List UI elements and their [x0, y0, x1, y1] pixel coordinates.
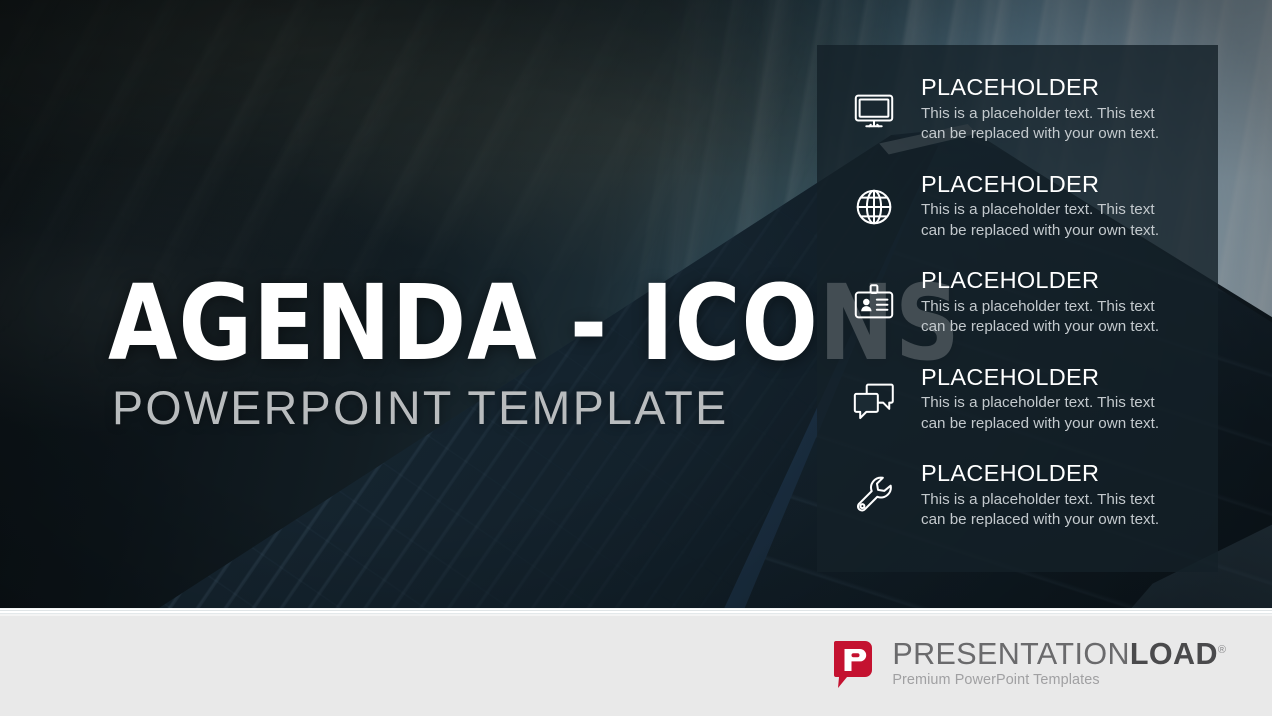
slide-canvas: AGENDA - ICONS POWERPOINT TEMPLATE PLACE… [0, 0, 1272, 716]
agenda-item-text: PLACEHOLDER This is a placeholder text. … [921, 268, 1192, 338]
agenda-item[interactable]: PLACEHOLDER This is a placeholder text. … [845, 461, 1192, 558]
monitor-icon [845, 81, 903, 139]
agenda-item-description: This is a placeholder text. This text ca… [921, 297, 1181, 338]
agenda-item-description: This is a placeholder text. This text ca… [921, 393, 1181, 434]
page-title: AGENDA - ICONS [108, 274, 722, 374]
id-card-icon [845, 274, 903, 332]
agenda-item-title: PLACEHOLDER [921, 75, 1192, 100]
agenda-item[interactable]: PLACEHOLDER This is a placeholder text. … [845, 268, 1192, 365]
agenda-item[interactable]: PLACEHOLDER This is a placeholder text. … [845, 75, 1192, 172]
agenda-item[interactable]: PLACEHOLDER This is a placeholder text. … [845, 365, 1192, 462]
agenda-item-title: PLACEHOLDER [921, 365, 1192, 390]
wrench-icon [845, 467, 903, 525]
footer-divider-rules [0, 609, 1272, 619]
registered-mark: ® [1218, 644, 1226, 656]
agenda-item-description: This is a placeholder text. This text ca… [921, 104, 1181, 145]
title-block: AGENDA - ICONS POWERPOINT TEMPLATE [108, 274, 748, 431]
presentationload-logo[interactable]: PRESENTATIONLOAD® Premium PowerPoint Tem… [830, 637, 1226, 689]
speech-bubble-p-icon [830, 637, 878, 689]
agenda-item[interactable]: PLACEHOLDER This is a placeholder text. … [845, 172, 1192, 269]
agenda-item-description: This is a placeholder text. This text ca… [921, 490, 1181, 531]
footer-bar: PRESENTATIONLOAD® Premium PowerPoint Tem… [0, 608, 1272, 716]
logo-wordmark: PRESENTATIONLOAD® [892, 639, 1226, 670]
agenda-item-title: PLACEHOLDER [921, 461, 1192, 486]
agenda-item-title: PLACEHOLDER [921, 172, 1192, 197]
agenda-panel: PLACEHOLDER This is a placeholder text. … [817, 45, 1218, 572]
agenda-item-text: PLACEHOLDER This is a placeholder text. … [921, 365, 1192, 435]
agenda-item-text: PLACEHOLDER This is a placeholder text. … [921, 172, 1192, 242]
logo-word-presentation: PRESENTATION [892, 637, 1130, 671]
speech-bubbles-icon [845, 371, 903, 429]
agenda-item-text: PLACEHOLDER This is a placeholder text. … [921, 461, 1192, 531]
globe-icon [845, 178, 903, 236]
page-subtitle: POWERPOINT TEMPLATE [112, 384, 742, 431]
agenda-item-title: PLACEHOLDER [921, 268, 1192, 293]
logo-text-group: PRESENTATIONLOAD® Premium PowerPoint Tem… [892, 637, 1226, 687]
agenda-item-description: This is a placeholder text. This text ca… [921, 200, 1181, 241]
agenda-item-text: PLACEHOLDER This is a placeholder text. … [921, 75, 1192, 145]
logo-word-load: LOAD [1130, 637, 1218, 671]
logo-tagline: Premium PowerPoint Templates [892, 673, 1226, 687]
